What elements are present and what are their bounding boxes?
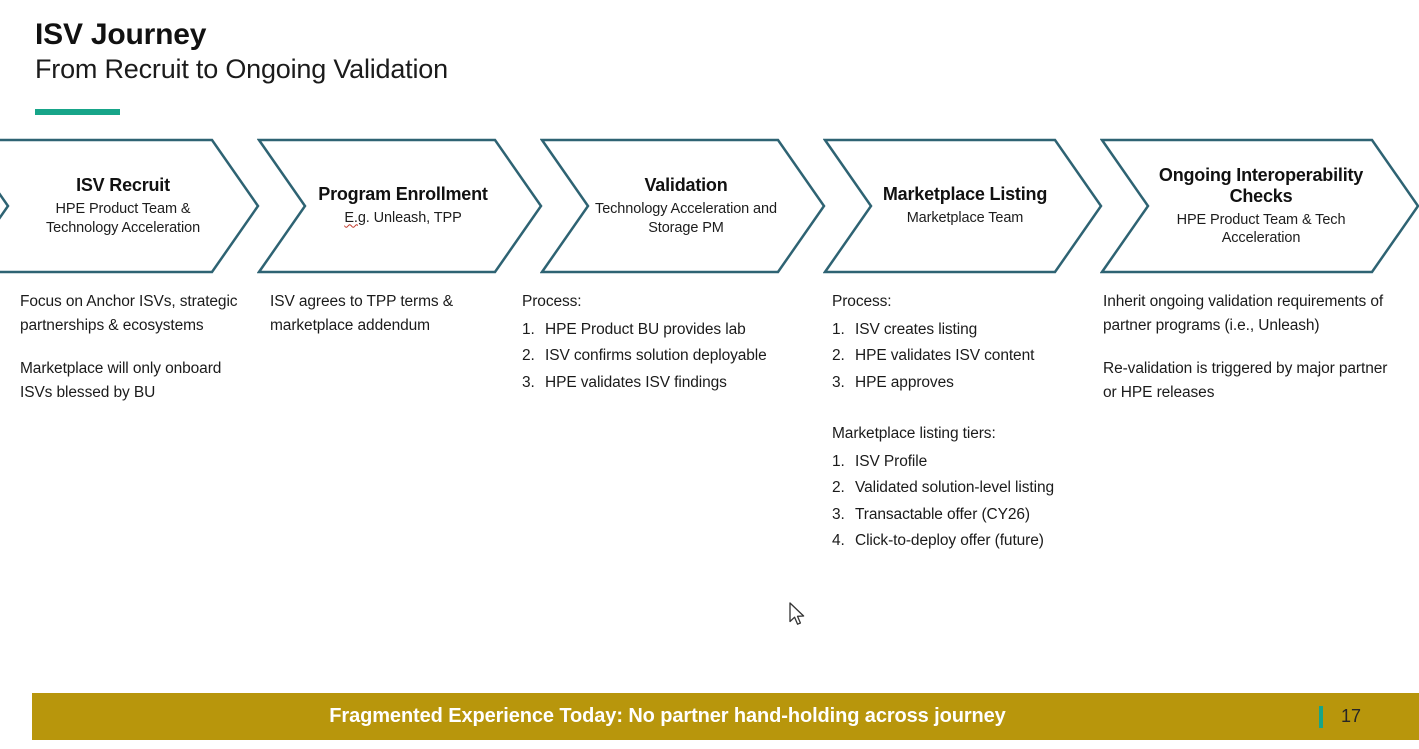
content-column-4: Process: 1. ISV creates listing 2. HPE v…: [832, 290, 1097, 553]
page-title: ISV Journey: [35, 18, 935, 52]
chevron-stage-3[interactable]: Validation Technology Acceleration and S…: [540, 138, 828, 274]
chevron-shape-icon: [1100, 138, 1419, 274]
list-item-number: 2.: [522, 344, 538, 368]
list-item: 3. HPE validates ISV findings: [522, 371, 822, 395]
column-4-spacer: [832, 394, 1097, 422]
list-item-text: Validated solution-level listing: [855, 476, 1097, 500]
list-item-number: 1.: [832, 450, 848, 474]
column-4-numbered-list: 1. ISV creates listing 2. HPE validates …: [832, 318, 1097, 395]
list-item-text: HPE validates ISV content: [855, 344, 1097, 368]
chevron-shape-icon: [540, 138, 828, 274]
list-item-text: ISV Profile: [855, 450, 1097, 474]
list-item: 1. HPE Product BU provides lab: [522, 318, 822, 342]
column-1-paragraph-1: Focus on Anchor ISVs, strategic partners…: [20, 290, 250, 337]
chevron-stage-4[interactable]: Marketplace Listing Marketplace Team: [823, 138, 1105, 274]
content-column-5: Inherit ongoing validation requirements …: [1103, 290, 1393, 404]
list-item-text: HPE Product BU provides lab: [545, 318, 822, 342]
title-accent-bar: [35, 109, 120, 115]
chevron-shape-icon: [0, 138, 262, 274]
content-column-2: ISV agrees to TPP terms & marketplace ad…: [270, 290, 505, 337]
column-5-paragraph-2: Re-validation is triggered by major part…: [1103, 357, 1393, 404]
list-item-number: 2.: [832, 476, 848, 500]
column-1-paragraph-2: Marketplace will only onboard ISVs bless…: [20, 357, 250, 404]
list-item-text: ISV creates listing: [855, 318, 1097, 342]
page-number-area: 17: [1303, 693, 1419, 740]
list-item: 2. ISV confirms solution deployable: [522, 344, 822, 368]
list-item-number: 2.: [832, 344, 848, 368]
chevron-stage-1[interactable]: ISV Recruit HPE Product Team & Technolog…: [0, 138, 262, 274]
list-item: 3. Transactable offer (CY26): [832, 503, 1097, 527]
list-item: 2. Validated solution-level listing: [832, 476, 1097, 500]
column-3-numbered-list: 1. HPE Product BU provides lab 2. ISV co…: [522, 318, 822, 395]
column-3-list-lead: Process:: [522, 290, 822, 314]
chevron-stage-2[interactable]: Program Enrollment E.g. Unleash, TPP: [257, 138, 545, 274]
list-item: 1. ISV Profile: [832, 450, 1097, 474]
content-column-1: Focus on Anchor ISVs, strategic partners…: [20, 290, 250, 404]
page-number: 17: [1341, 706, 1361, 727]
chevron-stage-5[interactable]: Ongoing Interoperability Checks HPE Prod…: [1100, 138, 1419, 274]
list-item: 1. ISV creates listing: [832, 318, 1097, 342]
chevron-shape-icon: [257, 138, 545, 274]
banner-text: Fragmented Experience Today: No partner …: [329, 705, 1005, 728]
column-4-list-lead: Process:: [832, 290, 1097, 314]
list-item-text: ISV confirms solution deployable: [545, 344, 822, 368]
content-column-3: Process: 1. HPE Product BU provides lab …: [522, 290, 822, 394]
list-item-number: 4.: [832, 529, 848, 553]
content-columns: Focus on Anchor ISVs, strategic partners…: [0, 290, 1419, 670]
list-item-number: 3.: [832, 371, 848, 395]
list-item: 3. HPE approves: [832, 371, 1097, 395]
list-item-number: 3.: [832, 503, 848, 527]
chevron-shape-icon: [823, 138, 1105, 274]
list-item: 4. Click-to-deploy offer (future): [832, 529, 1097, 553]
list-item-number: 3.: [522, 371, 538, 395]
list-item-text: HPE validates ISV findings: [545, 371, 822, 395]
title-block: ISV Journey From Recruit to Ongoing Vali…: [35, 18, 935, 85]
column-2-paragraph-1: ISV agrees to TPP terms & marketplace ad…: [270, 290, 505, 337]
list-item-text: Transactable offer (CY26): [855, 503, 1097, 527]
column-4-numbered-list-2: 1. ISV Profile 2. Validated solution-lev…: [832, 450, 1097, 553]
list-item: 2. HPE validates ISV content: [832, 344, 1097, 368]
list-item-text: HPE approves: [855, 371, 1097, 395]
column-4-list2-lead: Marketplace listing tiers:: [832, 422, 1097, 446]
list-item-text: Click-to-deploy offer (future): [855, 529, 1097, 553]
process-chevron-band: ISV Recruit HPE Product Team & Technolog…: [0, 138, 1419, 274]
bottom-banner: Fragmented Experience Today: No partner …: [32, 693, 1303, 740]
list-item-number: 1.: [832, 318, 848, 342]
page-subtitle: From Recruit to Ongoing Validation: [35, 54, 935, 86]
page-number-tick: [1319, 706, 1323, 728]
list-item-number: 1.: [522, 318, 538, 342]
column-5-paragraph-1: Inherit ongoing validation requirements …: [1103, 290, 1393, 337]
